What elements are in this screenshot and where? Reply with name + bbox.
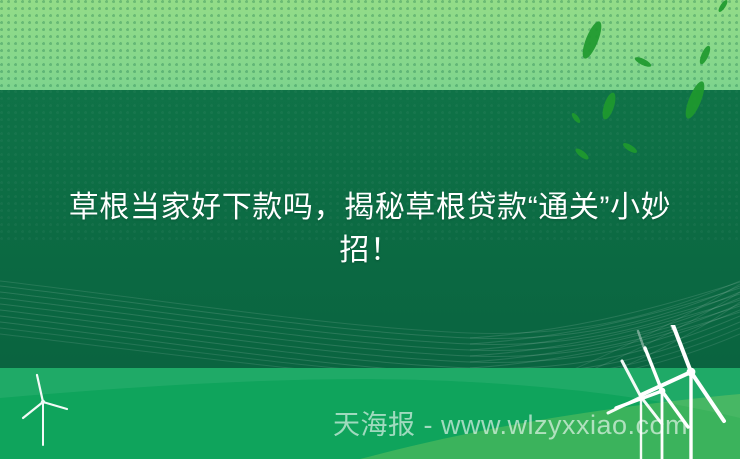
leaf-icon (579, 19, 605, 61)
leaf-icon (717, 0, 729, 13)
leaf-icon (698, 44, 713, 65)
falling-leaves-decoration (520, 0, 740, 160)
poster-canvas: 草根当家好下款吗，揭秘草根贷款“通关”小妙招！ 天海报 - www.wlzyxx… (0, 0, 740, 459)
turbine-left-svg (15, 368, 85, 459)
leaf-icon (682, 79, 708, 121)
leaf-icon (622, 141, 639, 155)
wind-turbine-icon (23, 375, 67, 445)
leaf-icon (574, 147, 590, 160)
leaf-icon (600, 91, 618, 121)
leaf-icon (634, 55, 653, 68)
poster-headline: 草根当家好下款吗，揭秘草根贷款“通关”小妙招！ (50, 186, 690, 272)
wind-turbine-icon (616, 348, 688, 459)
leaves-svg (520, 0, 740, 160)
leaf-icon (570, 112, 581, 125)
wind-turbine-left (15, 368, 85, 459)
site-watermark: 天海报 - www.wlzyxxiao.com (333, 408, 688, 442)
